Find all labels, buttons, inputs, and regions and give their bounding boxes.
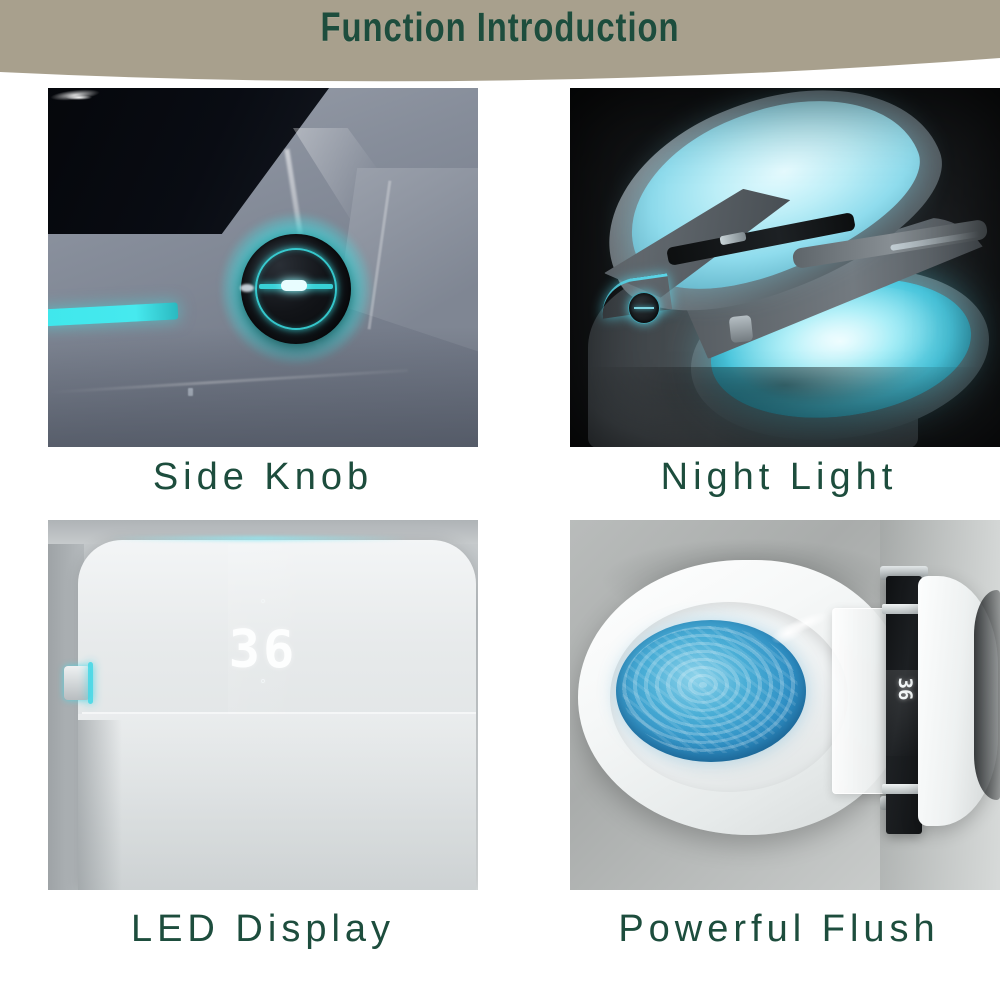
side-button-glow: [88, 662, 93, 704]
powerful-flush-photo: 36: [570, 520, 1000, 890]
side-button[interactable]: [64, 666, 90, 700]
side-knob-photo: [48, 88, 478, 447]
led-display-photo: ° 36 °: [48, 520, 478, 890]
feature-card-night-light[interactable]: Night Light: [570, 88, 1000, 447]
knob-center-dot-icon: [281, 280, 307, 291]
page-title: Function Introduction: [100, 4, 900, 51]
tank-body-shading: [78, 714, 476, 890]
feature-card-led-display[interactable]: ° 36 ° LED Display: [48, 520, 478, 890]
header-banner: Function Introduction: [0, 0, 1000, 92]
feature-card-powerful-flush[interactable]: 36 Powerful Flush: [570, 520, 1000, 890]
water-swirl-texture: [622, 626, 798, 754]
feature-grid: Side Knob: [0, 88, 1000, 1000]
bottom-shading: [48, 327, 478, 447]
function-introduction-page: Function Introduction: [0, 0, 1000, 1000]
degree-symbol-bottom-icon: °: [48, 678, 478, 693]
panel-temperature-value: 36: [894, 672, 916, 706]
tank-back-shadow: [974, 590, 1000, 800]
knob-rim-highlight: [240, 284, 254, 292]
lid-plate: [832, 608, 892, 794]
feature-caption-night-light: Night Light: [564, 456, 994, 499]
vignette-overlay: [570, 88, 1000, 447]
feature-caption-powerful-flush: Powerful Flush: [564, 908, 994, 951]
night-light-photo: [570, 88, 1000, 447]
tank-top-glow: [108, 536, 408, 541]
feature-caption-side-knob: Side Knob: [48, 456, 478, 499]
tank-left-shadow: [78, 720, 122, 890]
led-temperature-value: 36: [48, 620, 478, 680]
feature-caption-led-display: LED Display: [48, 908, 478, 951]
glass-highlight-secondary: [66, 95, 92, 100]
led-light-strip: [48, 302, 178, 326]
degree-symbol-top-icon: °: [48, 598, 478, 613]
feature-card-side-knob[interactable]: Side Knob: [48, 88, 478, 447]
